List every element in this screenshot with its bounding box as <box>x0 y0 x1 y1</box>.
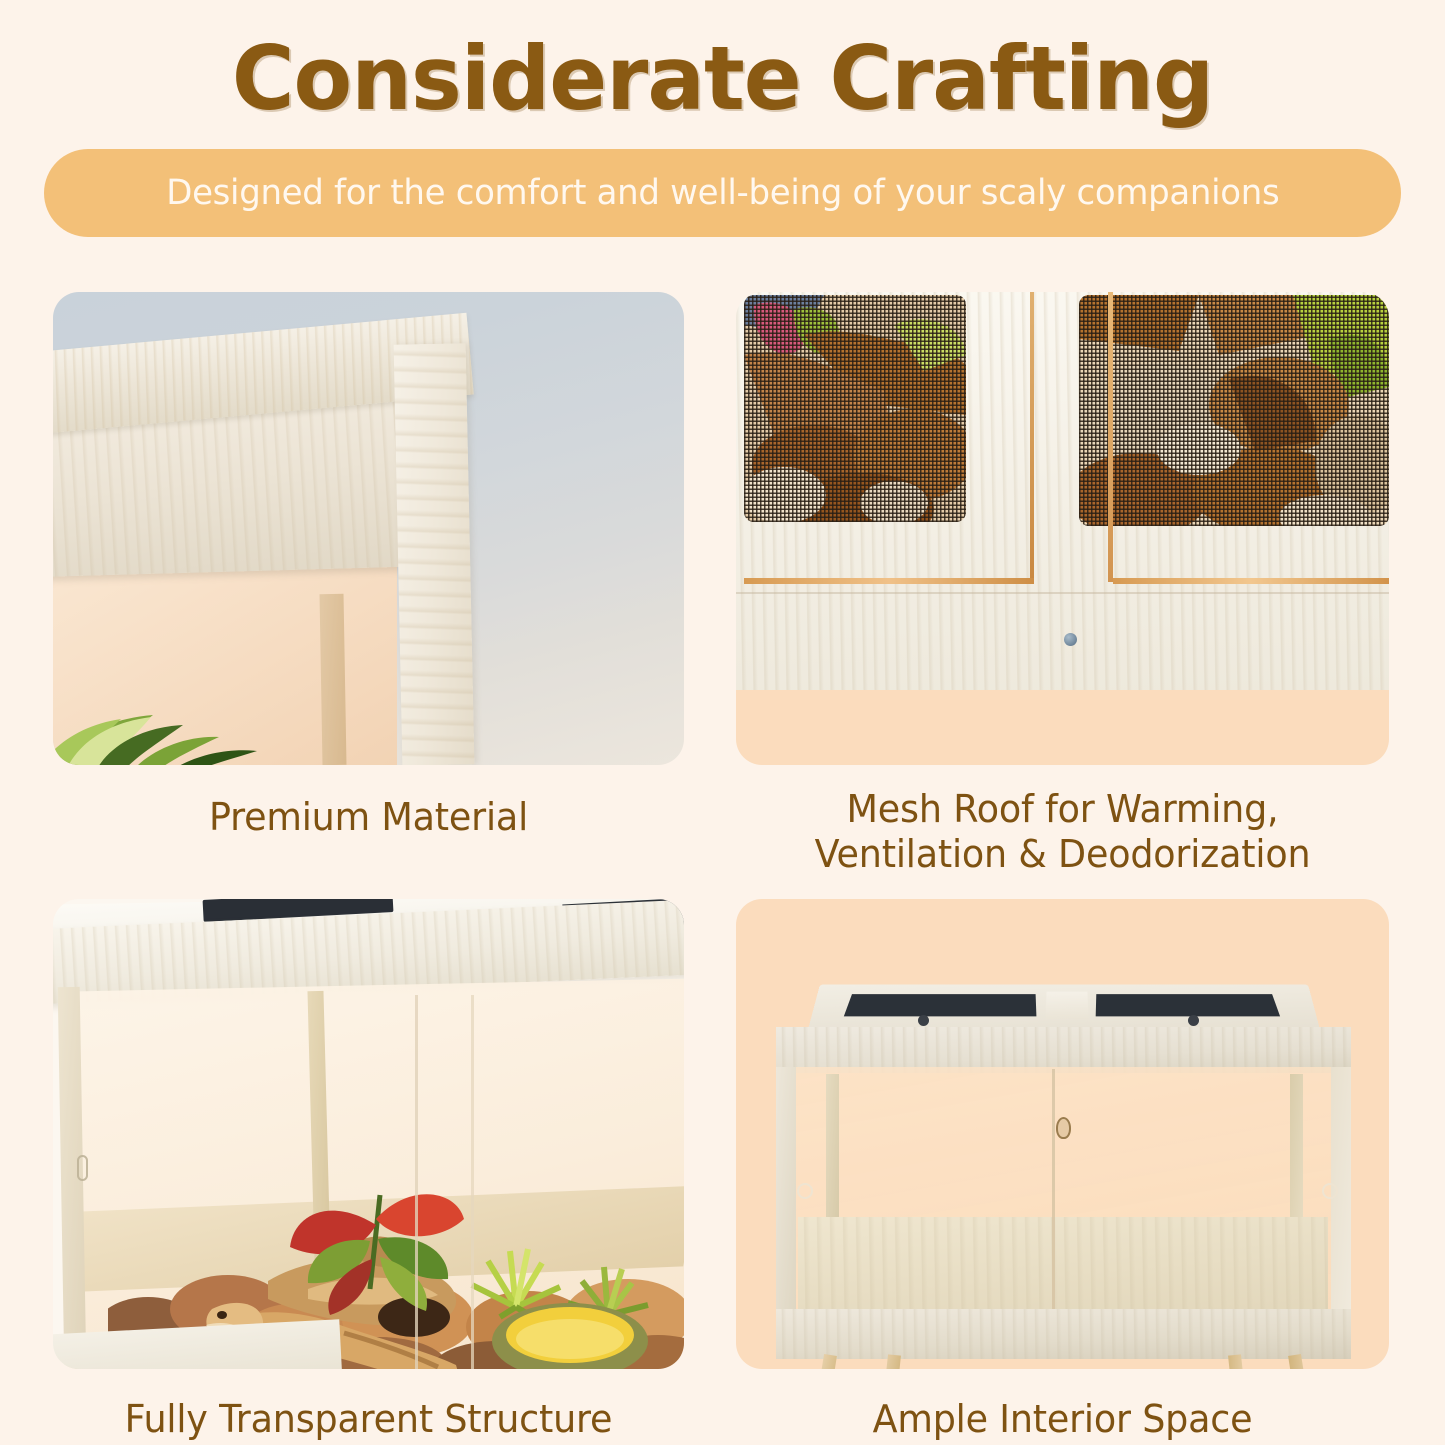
roof-edge-highlight-right <box>1113 578 1389 584</box>
door-handle-icon <box>77 1155 88 1181</box>
premium-material-photo <box>53 292 684 765</box>
header: Considerate Crafting Designed for the co… <box>0 0 1445 237</box>
mesh-roof-photo <box>736 292 1389 765</box>
feature-row-top: Premium Material <box>53 292 1389 877</box>
mesh-roof-caption-line-2: Ventilation & Deodorization <box>749 832 1376 877</box>
roof-groove-right <box>1108 292 1113 582</box>
mesh-lid-left <box>844 994 1037 1016</box>
mesh-lid-right <box>1096 994 1280 1016</box>
premium-material-caption: Premium Material <box>66 765 672 840</box>
feature-row-bottom: Fully Transparent Structure <box>53 899 1389 1442</box>
screw-icon <box>1064 633 1077 646</box>
door-knob-right-icon <box>1322 1183 1338 1199</box>
interior-floor <box>798 1217 1328 1313</box>
feature-card-mesh-roof: Mesh Roof for Warming, Ventilation & Deo… <box>736 292 1389 877</box>
roof-edge-highlight-left <box>744 578 1034 584</box>
feature-card-transparent-structure: Fully Transparent Structure <box>53 899 684 1442</box>
mesh-roof-caption-line-1: Mesh Roof for Warming, <box>749 787 1376 832</box>
lower-front-band <box>776 1309 1351 1359</box>
subtitle-banner: Designed for the comfort and well-being … <box>44 149 1401 237</box>
lid-screw-right-icon <box>1188 1015 1199 1026</box>
feature-card-premium-material: Premium Material <box>53 292 684 877</box>
left-side-wall <box>776 1067 796 1313</box>
glass-door-seam-left <box>415 995 418 1369</box>
ample-interior-space-photo <box>736 899 1389 1369</box>
peach-background-band <box>736 690 1389 765</box>
page-title: Considerate Crafting <box>22 30 1424 129</box>
transparent-structure-photo <box>53 899 684 1369</box>
transparent-structure-caption: Fully Transparent Structure <box>66 1369 672 1442</box>
mesh-panel-right <box>1079 295 1389 526</box>
plant-leaves-icon <box>53 627 283 765</box>
feature-grid: Premium Material <box>53 292 1389 1441</box>
mesh-weave-overlay <box>1079 295 1389 526</box>
door-lock-icon <box>1056 1117 1071 1139</box>
ample-interior-space-caption: Ample Interior Space <box>749 1369 1376 1442</box>
mesh-weave-overlay <box>744 295 966 522</box>
roof-groove-left <box>1030 292 1034 582</box>
lid-screw-left-icon <box>918 1015 929 1026</box>
feature-card-ample-interior-space: Ample Interior Space <box>736 899 1389 1442</box>
wood-corner-post <box>394 343 475 765</box>
glass-door-seam <box>1052 1069 1055 1313</box>
wood-inner-post <box>320 594 347 765</box>
mesh-roof-caption: Mesh Roof for Warming, Ventilation & Deo… <box>749 765 1376 877</box>
lid-center-divider <box>1045 991 1088 1019</box>
wood-seam <box>736 592 1389 594</box>
subtitle-text: Designed for the comfort and well-being … <box>166 173 1279 213</box>
mesh-panel-left <box>744 295 966 522</box>
door-knob-left-icon <box>797 1183 813 1199</box>
glass-door-seam-right <box>471 995 474 1369</box>
